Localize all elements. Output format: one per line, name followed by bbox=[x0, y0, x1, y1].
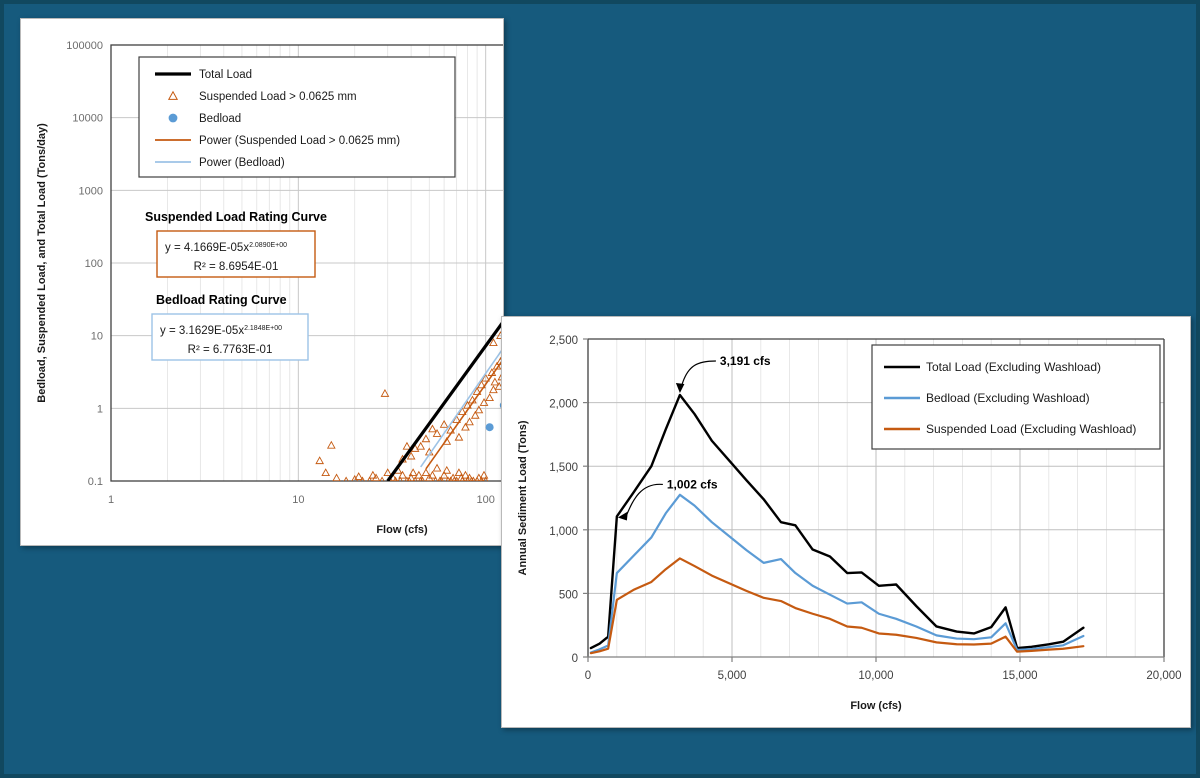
scatter-marker-triangle bbox=[316, 457, 323, 463]
annual-sediment-load-panel: 05001,0001,5002,0002,50005,00010,00015,0… bbox=[501, 316, 1191, 728]
legend-label: Power (Suspended Load > 0.0625 mm) bbox=[199, 135, 400, 147]
annotation-threshold-leader bbox=[627, 484, 663, 514]
annual-sediment-load-chart: 05001,0001,5002,0002,50005,00010,00015,0… bbox=[502, 317, 1190, 727]
chart-legend: Total Load (Excluding Washload)Bedload (… bbox=[872, 345, 1160, 449]
y-tick-label: 10 bbox=[91, 331, 103, 343]
y-tick-label: 0 bbox=[572, 653, 578, 665]
scatter-marker-triangle bbox=[417, 443, 424, 449]
x-tick-label: 0 bbox=[585, 670, 591, 682]
y-axis-title: Annual Sediment Load (Tons) bbox=[517, 420, 529, 575]
x-tick-label: 15,000 bbox=[1002, 670, 1037, 682]
x-tick-label: 100 bbox=[476, 494, 494, 506]
scatter-marker-triangle bbox=[475, 406, 482, 412]
y-tick-label: 1,500 bbox=[549, 462, 578, 474]
chart-legend: Total LoadSuspended Load > 0.0625 mmBedl… bbox=[139, 57, 455, 177]
y-tick-label: 10000 bbox=[72, 113, 103, 125]
legend-label: Suspended Load > 0.0625 mm bbox=[199, 91, 357, 103]
scatter-marker-triangle bbox=[422, 469, 429, 475]
x-tick-label: 10,000 bbox=[858, 670, 893, 682]
x-axis-title: Flow (cfs) bbox=[376, 524, 428, 536]
y-axis-ticks: 0.1110100100010000100000 bbox=[66, 40, 103, 488]
x-axis-title: Flow (cfs) bbox=[850, 700, 902, 712]
legend-label: Bedload (Excluding Washload) bbox=[926, 391, 1090, 405]
annotation-threshold-label: 1,002 cfs bbox=[667, 477, 718, 491]
legend-label: Total Load (Excluding Washload) bbox=[926, 360, 1101, 374]
scatter-marker-triangle bbox=[433, 430, 440, 436]
scatter-marker-triangle bbox=[433, 465, 440, 471]
legend-label: Total Load bbox=[199, 69, 252, 81]
legend-label: Bedload bbox=[199, 113, 241, 125]
y-tick-label: 100000 bbox=[66, 40, 103, 52]
x-tick-label: 20,000 bbox=[1146, 670, 1181, 682]
x-tick-label: 1 bbox=[108, 494, 114, 506]
rating-curve-annotations: Suspended Load Rating Curvey = 4.1669E-0… bbox=[145, 210, 327, 360]
scatter-marker-triangle bbox=[491, 378, 498, 384]
scatter-marker-triangle bbox=[333, 474, 340, 480]
x-axis-ticks: 05,00010,00015,00020,000 bbox=[585, 657, 1182, 682]
bedload-r-squared: R² = 6.7763E-01 bbox=[188, 344, 273, 356]
annotation-peak-arrowhead bbox=[676, 383, 685, 393]
series-line-bedload-excluding-washload- bbox=[591, 495, 1083, 653]
scatter-marker-triangle bbox=[429, 425, 436, 431]
flow-annotations: 3,191 cfs1,002 cfs bbox=[618, 354, 771, 520]
bedload-rating-curve-heading: Bedload Rating Curve bbox=[156, 293, 287, 307]
scatter-marker-triangle bbox=[328, 442, 335, 448]
y-tick-label: 500 bbox=[559, 589, 578, 601]
annotation-peak-label: 3,191 cfs bbox=[720, 354, 771, 368]
y-tick-label: 1 bbox=[97, 403, 103, 415]
series-line-suspended-load-excluding-washload- bbox=[591, 558, 1083, 653]
y-axis-title: Bedload, Suspended Load, and Total Load … bbox=[36, 123, 48, 403]
y-tick-label: 1,000 bbox=[549, 526, 578, 538]
y-axis-ticks: 05001,0001,5002,0002,500 bbox=[549, 335, 588, 665]
x-tick-label: 10 bbox=[292, 494, 304, 506]
sediment-rating-curve-panel: 0.1110100100010000100000110100Flow (cfs)… bbox=[20, 18, 504, 546]
scatter-marker-triangle bbox=[403, 443, 410, 449]
suspended-rating-curve-heading: Suspended Load Rating Curve bbox=[145, 210, 327, 224]
legend-label: Suspended Load (Excluding Washload) bbox=[926, 422, 1136, 436]
suspended-load-points bbox=[316, 140, 503, 484]
scatter-marker-triangle bbox=[322, 469, 329, 475]
scatter-marker-triangle bbox=[486, 394, 493, 400]
y-tick-label: 2,500 bbox=[549, 335, 578, 347]
slide-background: 0.1110100100010000100000110100Flow (cfs)… bbox=[0, 0, 1200, 778]
y-tick-label: 2,000 bbox=[549, 399, 578, 411]
sediment-rating-curve-chart: 0.1110100100010000100000110100Flow (cfs)… bbox=[21, 19, 503, 545]
suspended-r-squared: R² = 8.6954E-01 bbox=[194, 261, 279, 273]
scatter-marker-triangle bbox=[466, 418, 473, 424]
annotation-peak-leader bbox=[682, 361, 716, 385]
y-tick-label: 1000 bbox=[79, 185, 103, 197]
y-tick-label: 100 bbox=[85, 258, 103, 270]
scatter-marker-triangle bbox=[422, 435, 429, 441]
legend-label: Power (Bedload) bbox=[199, 157, 285, 169]
x-tick-label: 5,000 bbox=[718, 670, 747, 682]
y-tick-label: 0.1 bbox=[88, 476, 103, 488]
x-axis-ticks: 110100 bbox=[108, 494, 495, 506]
scatter-marker-circle bbox=[486, 423, 494, 431]
legend-circle-swatch bbox=[169, 114, 178, 123]
